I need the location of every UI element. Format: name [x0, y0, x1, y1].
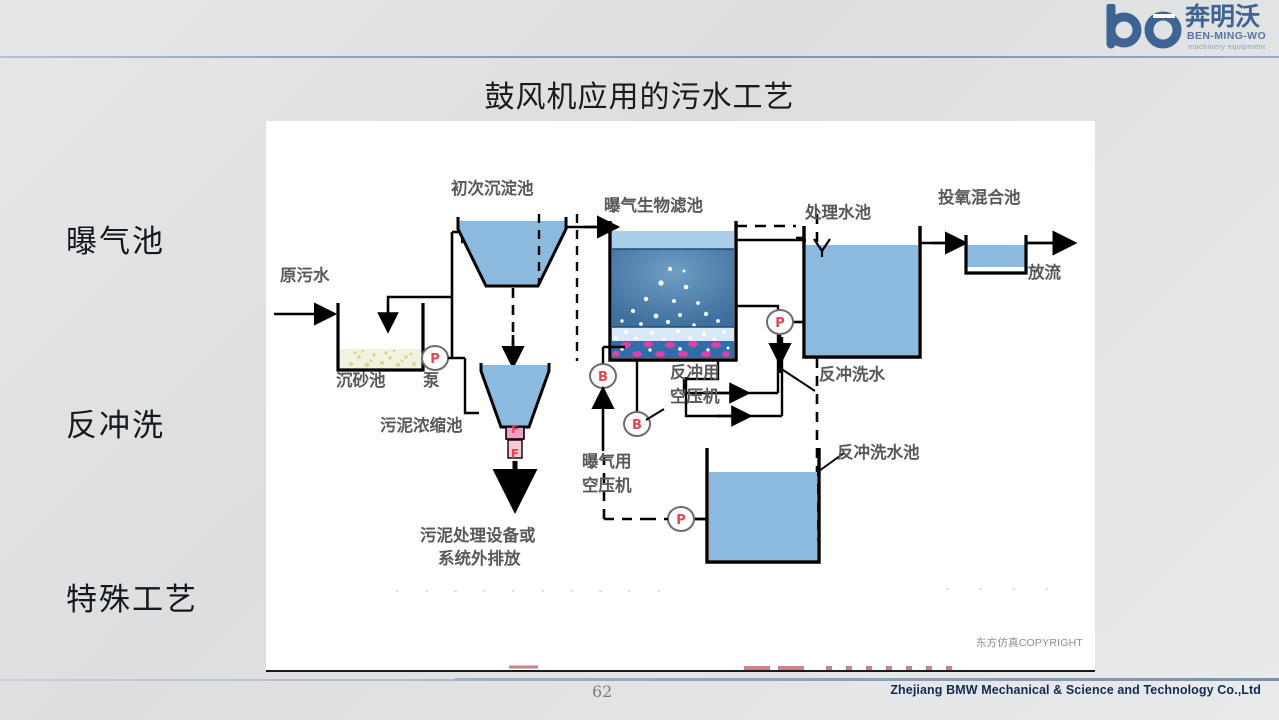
label-sludge-disposal-line1: 污泥处理设备或 [420, 525, 536, 545]
label-backwash-compressor-line1: 反冲用 [670, 362, 720, 382]
aerated-bio-filter-vessel [610, 221, 736, 360]
brand-name-en: BEN-MING-WO [1187, 30, 1266, 42]
diagram-watermark: 东方仿真COPYRIGHT [976, 635, 1083, 650]
treated-water-tank-vessel [804, 226, 920, 357]
marker-pump-grit: P [422, 346, 448, 370]
label-backwash-tank: 反冲洗水池 [837, 442, 920, 462]
grit-chamber-vessel [338, 303, 423, 370]
label-primary-settler: 初次沉淀池 [451, 178, 534, 198]
marker-blower-1: B [590, 364, 616, 388]
label-raw-sewage: 原污水 [280, 265, 330, 285]
company-name: Zhejiang BMW Mechanical & Science and Te… [890, 683, 1261, 697]
label-sludge-disposal-line2: 系统外排放 [438, 548, 521, 568]
label-treated-water-tank: 处理水池 [804, 202, 872, 222]
brand-name-cn: 奔明沃 [1185, 4, 1260, 29]
backwash-water-tank-vessel [707, 448, 819, 562]
sidebar-item-aeration-tank[interactable]: 曝气池 [66, 216, 165, 261]
svg-text:P: P [676, 513, 686, 528]
label-oxygen-mixing-tank: 投氧混合池 [938, 187, 1021, 207]
label-aeration-compressor-line2: 空压机 [582, 475, 632, 495]
diagram-canvas: P F F [266, 121, 1095, 672]
svg-text:F: F [511, 423, 519, 436]
sidebar-item-backwash[interactable]: 反冲洗 [66, 400, 165, 445]
brand-tagline: machinery equipment [1188, 42, 1265, 51]
label-sludge-thickener: 污泥浓缩池 [380, 415, 463, 435]
label-pump-1: 泵 [423, 371, 440, 390]
sidebar-item-special-process[interactable]: 特殊工艺 [66, 574, 198, 619]
label-aerated-bio-filter: 曝气生物滤池 [604, 195, 704, 215]
page-title: 鼓风机应用的污水工艺 [0, 72, 1279, 116]
label-grit-chamber: 沉砂池 [336, 370, 386, 390]
label-aeration-compressor-line1: 曝气用 [582, 451, 632, 471]
sludge-thickener-vessel [481, 363, 549, 458]
svg-text:F: F [511, 447, 519, 461]
label-backwash-water: 反冲洗水 [819, 364, 886, 384]
primary-settling-tank-vessel [458, 217, 566, 286]
header-divider [0, 56, 1279, 58]
footer-divider-accent [455, 678, 1279, 681]
bo-monogram-logo [1105, 4, 1191, 50]
svg-text:B: B [598, 370, 608, 385]
marker-pump-bottom: P [668, 507, 707, 531]
page-number: 62 [592, 682, 612, 701]
svg-text:B: B [632, 418, 642, 433]
marker-pump-backwash: P [767, 310, 804, 334]
brand-logo: 奔明沃 BEN-MING-WO machinery equipment [1103, 2, 1273, 54]
wastewater-process-diagram: P F F [266, 121, 1095, 672]
svg-text:P: P [775, 316, 785, 331]
label-discharge: 放流 [1027, 262, 1062, 282]
marker-blower-2: B [624, 412, 650, 436]
label-backwash-compressor-line2: 空压机 [670, 386, 720, 406]
svg-text:P: P [430, 352, 440, 367]
oxygen-mixing-tank-vessel [966, 235, 1026, 273]
